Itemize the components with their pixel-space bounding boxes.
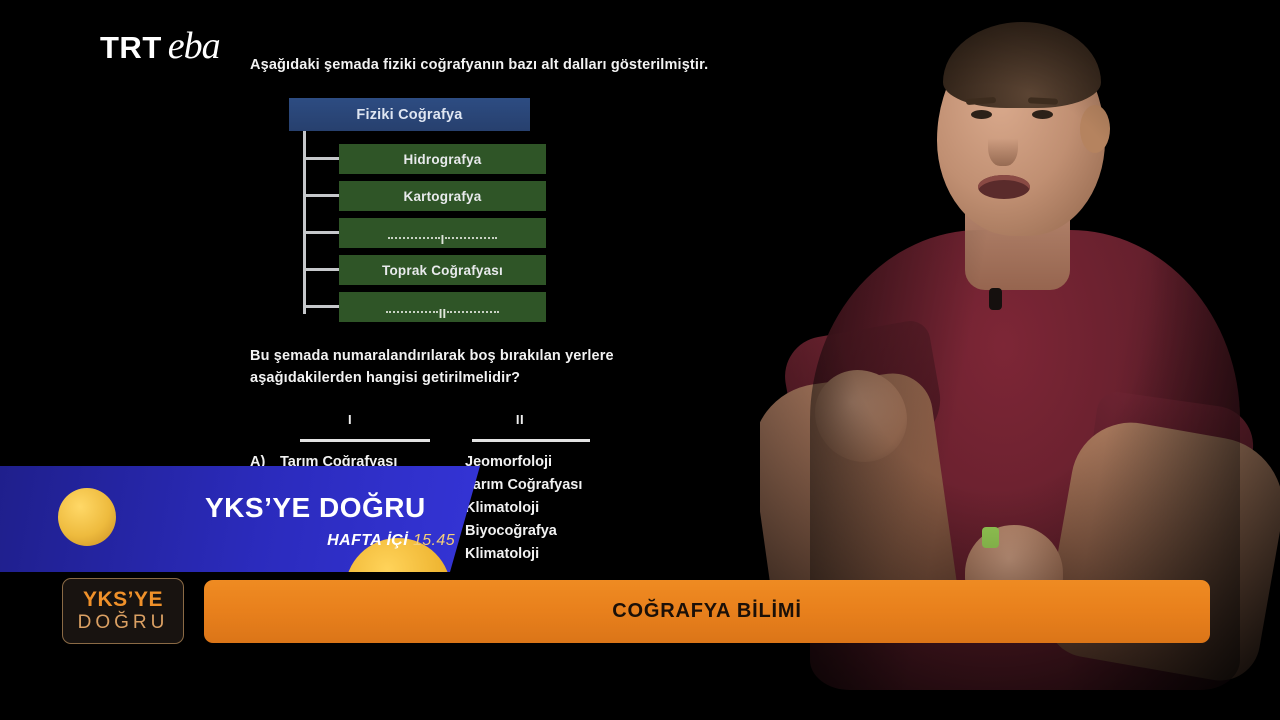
physical-geography-diagram: Fiziki Coğrafya Hidrografya Kartografya … [289,98,549,326]
dotted-fill-left-1 [388,237,440,239]
diagram-root-label: Fiziki Coğrafya [356,107,462,123]
diagram-leaf-label-4: Toprak Coğrafyası [382,263,503,278]
answer-column-header-1: I [320,412,380,427]
dotted-fill-right-1 [445,237,497,239]
promo-schedule-time: 15.45 [413,532,455,549]
option-col2-value: Klimatoloji [465,500,539,516]
promo-schedule: HAFTA İÇİ 15.45 [205,532,455,550]
option-col2-value: Klimatoloji [465,546,539,562]
diagram-leaf-node-4: Toprak Coğrafyası [339,255,546,285]
connector-branch-5 [303,305,340,308]
connector-branch-4 [303,268,340,271]
connector-branch-3 [303,231,340,234]
diagram-leaf-node-2: Kartografya [339,181,546,211]
promo-banner: YKS’YE DOĞRU HAFTA İÇİ 15.45 [0,466,480,572]
promo-title: YKS’YE DOĞRU [205,492,460,524]
connector-branch-2 [303,194,340,197]
answer-column-header-2: II [490,412,550,427]
show-badge: YKS’YE DOĞRU [62,578,184,644]
diagram-leaf-node-3-blank: I [339,218,546,248]
show-badge-line1: YKS’YE [83,589,163,611]
diagram-blank-numeral-2: II [439,307,447,320]
show-badge-line2: DOĞRU [78,613,169,633]
option-col2-value: Biyocoğrafya [465,523,557,539]
sun-circle-left-icon [58,488,116,546]
question-stem-bottom: Bu şemada numaralandırılarak boş bırakıl… [250,345,680,390]
option-col2-value: Tarım Coğrafyası [465,477,582,493]
question-stem-top: Aşağıdaki şemada fiziki coğrafyanın bazı… [250,57,770,73]
answer-column-rule-1 [300,439,430,442]
diagram-leaf-node-5-blank: II [339,292,546,322]
diagram-leaf-label-2: Kartografya [404,189,482,204]
diagram-blank-slot-1: I [339,218,546,248]
dotted-fill-left-2 [386,311,438,313]
diagram-blank-numeral-1: I [441,233,445,246]
lower-third-title: COĞRAFYA BİLİMİ [612,600,801,623]
dotted-fill-right-2 [447,311,499,313]
diagram-leaf-label-1: Hidrografya [404,152,482,167]
diagram-leaf-node-1: Hidrografya [339,144,546,174]
diagram-blank-slot-2: II [339,292,546,322]
answer-column-rule-2 [472,439,590,442]
diagram-root-node: Fiziki Coğrafya [289,98,530,131]
promo-schedule-label: HAFTA İÇİ [327,532,408,549]
connector-branch-1 [303,157,340,160]
lower-third-bar: COĞRAFYA BİLİMİ [204,580,1210,643]
